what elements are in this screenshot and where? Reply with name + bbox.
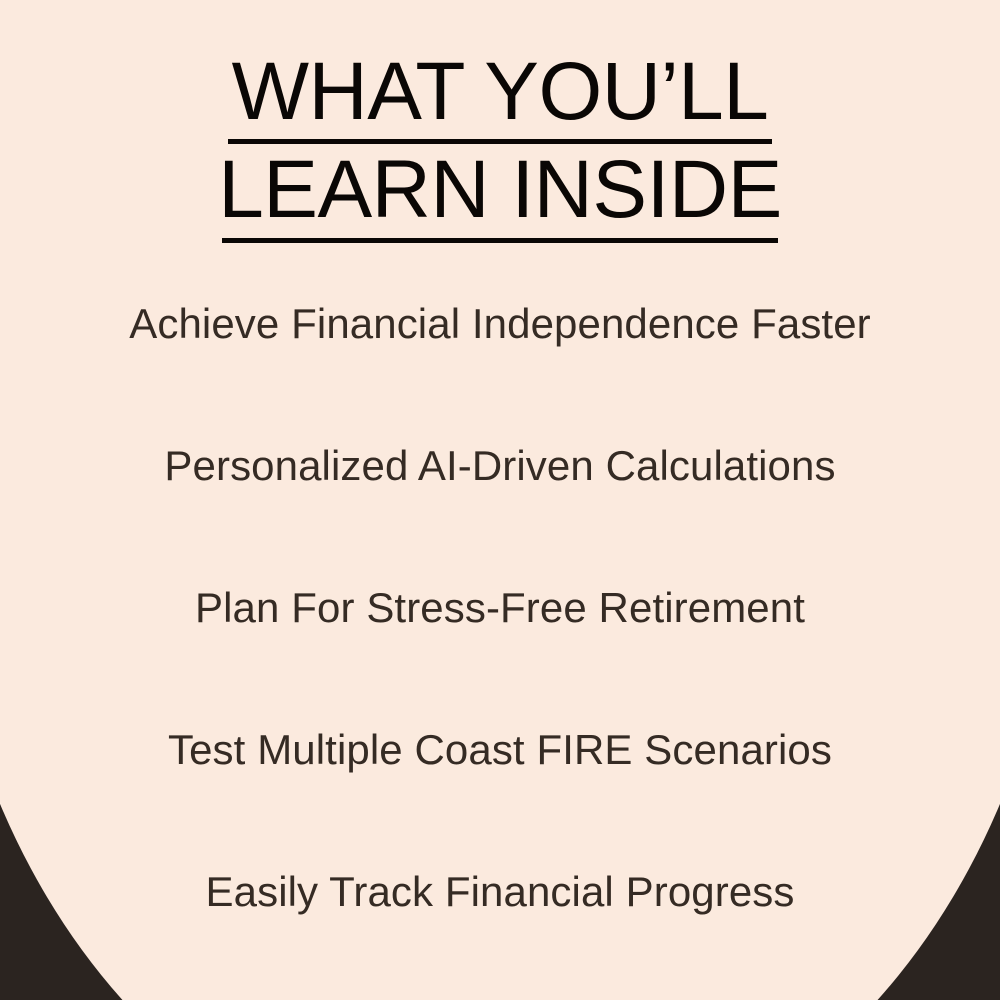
list-item: Personalized AI-Driven Calculations (0, 438, 1000, 494)
heading-line-2-text: LEARN INSIDE (218, 150, 782, 230)
list-item: Achieve Financial Independence Faster (0, 296, 1000, 352)
list-item: Test Multiple Coast FIRE Scenarios (0, 722, 1000, 778)
card-content: WHAT YOU’LL LEARN INSIDE Achieve Financi… (0, 0, 1000, 1000)
benefit-list: Achieve Financial Independence Faster Pe… (0, 296, 1000, 920)
list-item: Plan For Stress-Free Retirement (0, 580, 1000, 636)
list-item: Easily Track Financial Progress (0, 864, 1000, 920)
heading-line-1-text: WHAT YOU’LL (232, 52, 769, 132)
page-title: WHAT YOU’LL LEARN INSIDE (0, 52, 1000, 243)
heading-line-2: LEARN INSIDE (0, 150, 1000, 230)
heading-line-1: WHAT YOU’LL (0, 52, 1000, 132)
heading-underline-2 (222, 238, 778, 243)
promo-card: WHAT YOU’LL LEARN INSIDE Achieve Financi… (0, 0, 1000, 1000)
